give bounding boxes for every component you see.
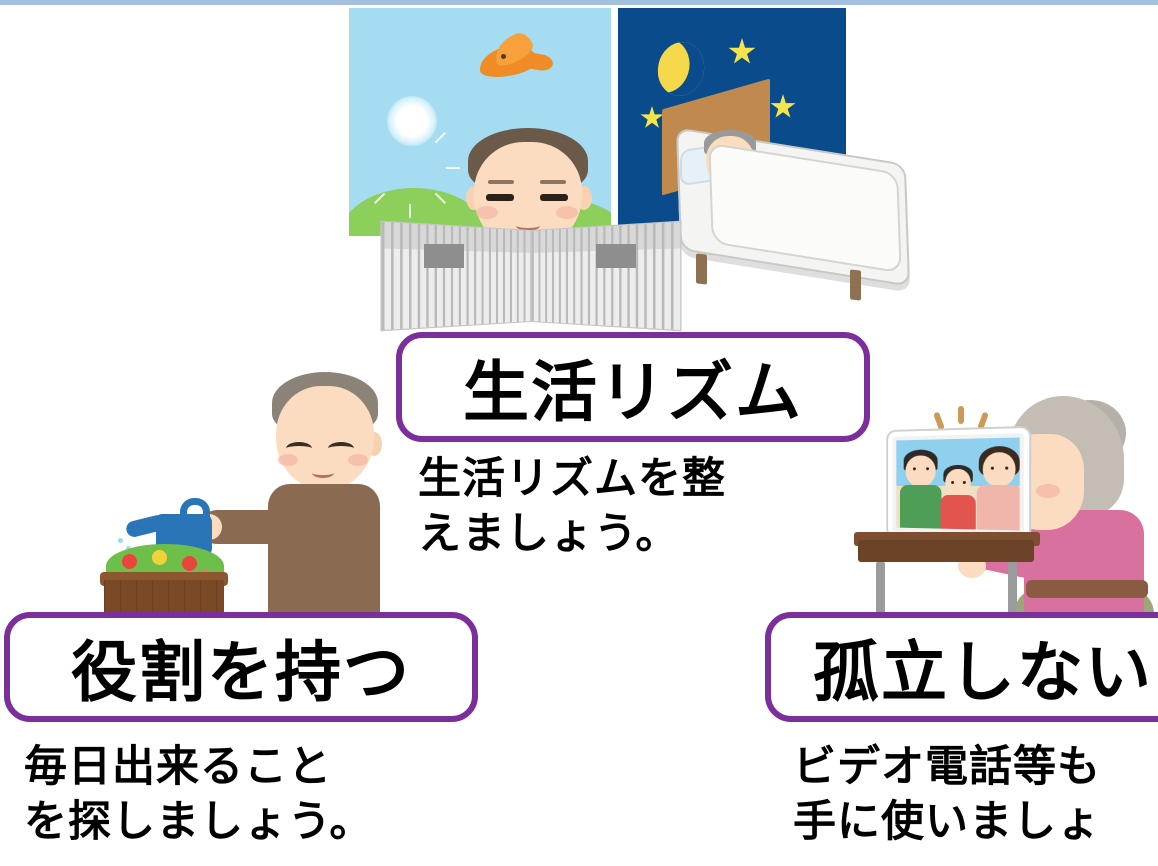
family-mother-body: [977, 485, 1020, 531]
gardener-eye-right: [328, 442, 354, 455]
bird-eye: [501, 54, 506, 59]
tablet-screen: [896, 437, 1019, 530]
gardener-mouth: [312, 468, 334, 478]
reader-eye-left: [486, 194, 514, 201]
family-father-body: [900, 485, 941, 531]
family-eye: [991, 467, 994, 470]
caption-line-2: を探しましょう。: [24, 797, 373, 847]
label-pill-have-a-role[interactable]: 役割を持つ: [4, 612, 478, 722]
low-table: [858, 540, 1034, 562]
excitement-mark: [977, 412, 989, 431]
flower-icon: [122, 554, 137, 569]
family-eye: [1005, 467, 1008, 470]
newspaper-photo-block: [424, 244, 464, 268]
flower-icon: [152, 550, 167, 565]
slide-canvas: 生活リズム 役割を持つ 孤立しない 生活リズムを整えましょう。 毎日出来ることを…: [0, 0, 1158, 866]
sleeping-person-illustration: [662, 94, 930, 316]
woman-belt: [1026, 580, 1148, 598]
newspaper-photo-block: [596, 244, 636, 268]
caption-line-1: 毎日出来ること: [24, 742, 332, 792]
tablet-device-icon: [888, 428, 1029, 540]
reader-eye-right: [540, 194, 568, 201]
caption-line-1: ビデオ電話等も: [793, 742, 1101, 792]
excitement-mark: [958, 406, 964, 424]
bed-leg: [696, 253, 707, 284]
caption-lifestyle-rhythm: 生活リズムを整えましょう。: [418, 452, 726, 561]
family-eye: [926, 467, 929, 470]
reader-brow-right: [540, 180, 566, 184]
family-mother-head: [983, 452, 1016, 487]
caption-do-not-isolate: ビデオ電話等も手に使いましょ: [793, 740, 1101, 849]
newspaper-page-left: [380, 221, 531, 332]
reader-cheek-left: [476, 206, 498, 219]
family-eye: [951, 481, 954, 484]
caption-line-1: 生活リズムを整: [418, 454, 726, 504]
family-eye: [913, 467, 916, 470]
newspaper-page-right: [531, 221, 682, 332]
family-father-head: [906, 455, 936, 487]
caption-line-2: えましょう。: [418, 509, 679, 559]
label-pill-do-not-isolate[interactable]: 孤立しない: [765, 612, 1158, 722]
family-child-body: [940, 495, 975, 531]
reader-cheek-right: [556, 206, 578, 219]
label-pill-lifestyle-rhythm[interactable]: 生活リズム: [396, 332, 870, 442]
newspaper-icon: [396, 230, 666, 322]
caption-line-2: 手に使いましょ: [793, 797, 1101, 847]
watering-flowers-illustration: [104, 358, 404, 626]
gardener-cheek-right: [348, 454, 368, 466]
reader-brow-left: [488, 180, 514, 184]
bed-leg: [850, 269, 861, 300]
video-call-illustration: [858, 392, 1158, 632]
gardener-cheek-left: [278, 454, 298, 466]
woman-cheek: [1036, 484, 1060, 498]
excitement-mark: [933, 412, 945, 431]
flower-icon: [182, 556, 197, 571]
water-droplet: [118, 538, 123, 543]
family-child-head: [945, 469, 970, 497]
caption-have-a-role: 毎日出来ることを探しましょう。: [24, 740, 373, 849]
gardener-body: [268, 484, 380, 626]
gardener-eye-left: [286, 442, 312, 455]
top-accent-strip: [0, 0, 1158, 5]
family-eye: [963, 481, 966, 484]
